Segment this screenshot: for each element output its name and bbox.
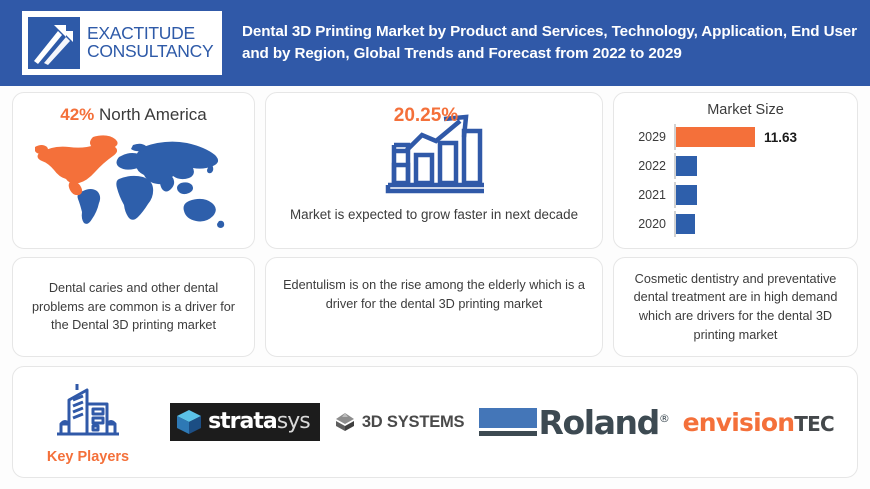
bar-category-label: 2029 <box>620 130 674 144</box>
key-players-heading: Key Players <box>13 380 163 465</box>
insight-card-3: Cosmetic dentistry and preventative dent… <box>613 257 858 357</box>
office-building-icon <box>51 380 125 447</box>
partner-logos: stratasys 3D SYSTEMS Roland® <box>163 403 857 441</box>
market-size-chart-card: Market Size 2029 11.63 2022 2021 2020 <box>613 92 858 249</box>
stratasys-text-light: sys <box>277 409 310 434</box>
chart-bar-row: 2029 11.63 <box>620 124 847 150</box>
insight-text: Edentulism is on the rise among the elde… <box>266 258 602 356</box>
stratasys-mark-icon <box>176 409 202 435</box>
chart-bar-row: 2021 <box>620 182 847 208</box>
bar-category-label: 2021 <box>620 188 674 202</box>
infographic-page: EXACTITUDE CONSULTANCY Dental 3D Printin… <box>0 0 870 489</box>
growth-caption: Market is expected to grow faster in nex… <box>266 207 602 222</box>
logo-stratasys: stratasys <box>170 403 320 441</box>
insight-text: Dental caries and other dental problems … <box>13 258 254 356</box>
insight-card-1: Dental caries and other dental problems … <box>12 257 255 357</box>
roland-trademark: ® <box>659 412 669 425</box>
arrows-up-right-icon <box>28 17 80 69</box>
bar-fill <box>676 127 755 147</box>
roland-mark-icon <box>479 408 537 436</box>
3d-systems-wordmark: 3D SYSTEMS <box>362 413 465 432</box>
logo-line-2: CONSULTANCY <box>87 43 213 61</box>
3d-systems-mark-icon <box>334 411 356 433</box>
bar-category-label: 2022 <box>620 159 674 173</box>
region-percent: 42% <box>60 105 94 124</box>
bar-fill <box>676 185 697 205</box>
insight-text: Cosmetic dentistry and preventative dent… <box>614 258 857 356</box>
roland-text: Roland <box>539 403 659 442</box>
chart-title: Market Size <box>614 102 857 118</box>
stratasys-wordmark: stratasys <box>208 411 310 433</box>
chart-bar-row: 2020 <box>620 211 847 237</box>
logo-roland: Roland® <box>479 406 669 439</box>
chart-bars: 2029 11.63 2022 2021 2020 <box>614 124 857 237</box>
stratasys-text-bold: strata <box>208 409 277 434</box>
region-share-card: 42% North America <box>12 92 255 249</box>
region-share-title: 42% North America <box>13 105 254 125</box>
envisiontec-text-orange: envision <box>683 408 795 437</box>
envisiontec-text-dark: TEC <box>794 412 834 436</box>
logo-3d-systems: 3D SYSTEMS <box>334 411 465 433</box>
world-map-icon <box>13 131 254 235</box>
key-players-label: Key Players <box>47 449 129 465</box>
bar-fill <box>676 156 697 176</box>
key-players-card: Key Players stratasys <box>12 366 858 478</box>
logo-envisiontec: envisionTEC <box>683 410 834 435</box>
insight-card-2: Edentulism is on the rise among the elde… <box>265 257 603 357</box>
roland-wordmark: Roland® <box>539 406 669 439</box>
page-title: Dental 3D Printing Market by Product and… <box>242 21 857 65</box>
company-logo: EXACTITUDE CONSULTANCY <box>22 11 222 75</box>
cagr-value: 20.25% <box>258 105 594 127</box>
growth-card: 20.25% Market is expected to grow faster… <box>265 92 603 249</box>
bar-data-label: 11.63 <box>764 130 797 145</box>
logo-wordmark: EXACTITUDE CONSULTANCY <box>87 25 213 61</box>
region-name: North America <box>99 105 207 124</box>
bar-fill <box>676 214 695 234</box>
chart-bar-row: 2022 <box>620 153 847 179</box>
header-bar: EXACTITUDE CONSULTANCY Dental 3D Printin… <box>0 0 870 86</box>
bar-category-label: 2020 <box>620 217 674 231</box>
